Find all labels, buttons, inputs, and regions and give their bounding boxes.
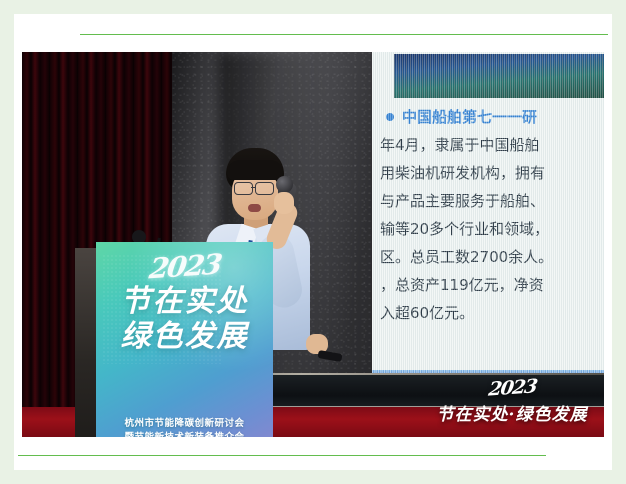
slide-line: 与产品主要服务于船舶、: [380, 190, 604, 211]
divider-bottom: [18, 455, 546, 456]
podium-banner: 2023 节在实处 绿色发展 杭州市节能降碳创新研讨会 暨节能新技术新装备推介会: [96, 242, 273, 437]
handheld-microphone-head: [276, 176, 293, 193]
glasses-bridge: [251, 187, 256, 188]
podium-banner-content: 2023 节在实处 绿色发展: [96, 242, 273, 437]
projection-screen: 中国船舶第七一一研 年4月，隶属于中国船舶 用柴油机研发机构，拥有 与产品主要服…: [372, 52, 604, 412]
stage-front-banner: 2023 节在实处·绿色发展: [420, 370, 604, 432]
slide-photo-strip: [394, 54, 604, 98]
speaker-hair-fringe: [227, 160, 283, 180]
slide-line: 入超60亿元。: [380, 302, 604, 323]
podium-script-mark: 2023: [147, 248, 222, 286]
page-frame: 中国船舶第七一一研 年4月，隶属于中国船舶 用柴油机研发机构，拥有 与产品主要服…: [0, 0, 626, 484]
slide-line: ，总资产119亿元，净资: [380, 274, 604, 295]
slide-body: 中国船舶第七一一研 年4月，隶属于中国船舶 用柴油机研发机构，拥有 与产品主要服…: [372, 98, 604, 330]
slide-heading: 中国船舶第七一一研: [402, 106, 537, 127]
glasses-lens-right: [255, 182, 274, 195]
divider-top: [80, 34, 608, 35]
stage-banner-script-mark: 2023: [487, 375, 538, 400]
podium-subtitle-line2: 暨节能新技术新装备推介会: [96, 431, 273, 437]
podium-side-panel: [75, 248, 97, 437]
slide-line: 输等20多个行业和领域，: [380, 218, 604, 239]
slide-line: 区。总员工数2700余人。: [380, 246, 604, 267]
glasses-lens-left: [234, 182, 253, 195]
podium-headline-line1: 节在实处: [121, 285, 249, 319]
slide-line: 用柴油机研发机构，拥有: [380, 162, 604, 183]
speaker-mouth: [248, 204, 261, 212]
conference-photo: 中国船舶第七一一研 年4月，隶属于中国船舶 用柴油机研发机构，拥有 与产品主要服…: [22, 52, 604, 437]
stage-banner-text: 节在实处·绿色发展: [437, 400, 588, 425]
slide-heading-row: 中国船舶第七一一研: [386, 106, 604, 127]
speaker-hand-holding-mic: [274, 192, 294, 214]
bullet-icon: [386, 113, 394, 121]
podium-subtitle-block: 杭州市节能降碳创新研讨会 暨节能新技术新装备推介会: [96, 417, 273, 437]
slide-line: 年4月，隶属于中国船舶: [380, 134, 604, 155]
podium-subtitle-line1: 杭州市节能降碳创新研讨会: [96, 417, 273, 431]
podium-headline-line2: 绿色发展: [121, 320, 249, 354]
